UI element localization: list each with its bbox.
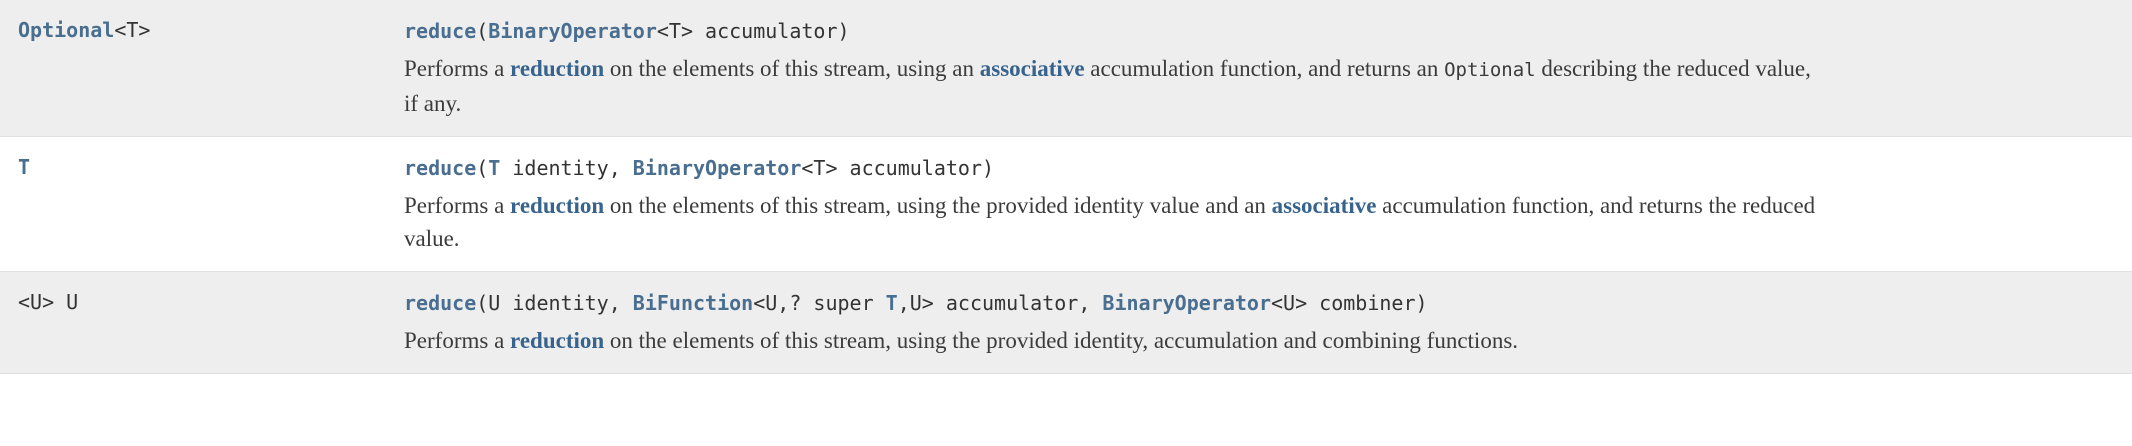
method-name-link[interactable]: reduce: [404, 19, 476, 43]
param-text: identity,: [500, 156, 632, 180]
signature-open-paren: (: [476, 291, 488, 315]
method-summary-table: Optional<T>reduce(BinaryOperator<T> accu…: [0, 0, 2132, 374]
description-text: Performs a: [404, 328, 510, 353]
method-signature: reduce(T identity, BinaryOperator<T> acc…: [404, 153, 2096, 183]
method-signature: reduce(BinaryOperator<T> accumulator): [404, 16, 2096, 46]
inline-code: Optional: [1444, 59, 1536, 81]
param-type-link[interactable]: BinaryOperator: [1102, 291, 1271, 315]
param-text: U identity,: [488, 291, 633, 315]
param-text: ,U> accumulator,: [898, 291, 1103, 315]
description-text: on the elements of this stream, using th…: [604, 193, 1271, 218]
return-type-link[interactable]: T: [18, 155, 30, 179]
signature-open-paren: (: [476, 156, 488, 180]
description-text: on the elements of this stream, using th…: [604, 328, 1518, 353]
param-type-link[interactable]: BinaryOperator: [488, 19, 657, 43]
return-type: <U> U: [18, 288, 404, 316]
return-type-generic: <T>: [114, 18, 150, 42]
method-description: Performs a reduction on the elements of …: [404, 52, 1824, 120]
return-type-link[interactable]: Optional: [18, 18, 114, 42]
description-text: accumulation function, and returns an: [1085, 56, 1445, 81]
param-type-link[interactable]: BinaryOperator: [633, 156, 802, 180]
return-type-cell: Optional<T>: [0, 0, 404, 137]
param-type-link[interactable]: T: [488, 156, 500, 180]
param-type-link[interactable]: BiFunction: [633, 291, 753, 315]
description-link[interactable]: reduction: [510, 328, 604, 353]
signature-open-paren: (: [476, 19, 488, 43]
return-type-cell: T: [0, 137, 404, 272]
description-text: Performs a: [404, 193, 510, 218]
table-row: <U> Ureduce(U identity, BiFunction<U,? s…: [0, 272, 2132, 374]
description-link[interactable]: reduction: [510, 193, 604, 218]
return-type: T: [18, 153, 404, 181]
return-type-cell: <U> U: [0, 272, 404, 374]
param-text: <U,? super: [753, 291, 885, 315]
method-description: Performs a reduction on the elements of …: [404, 189, 1824, 255]
param-type-link[interactable]: T: [886, 291, 898, 315]
method-description: Performs a reduction on the elements of …: [404, 324, 1824, 357]
signature-close-paren: ): [1416, 291, 1428, 315]
method-name-link[interactable]: reduce: [404, 156, 476, 180]
param-text: <T> accumulator: [657, 19, 838, 43]
description-text: Performs a: [404, 56, 510, 81]
method-signature: reduce(U identity, BiFunction<U,? super …: [404, 288, 2096, 318]
method-detail-cell: reduce(T identity, BinaryOperator<T> acc…: [404, 137, 2132, 272]
return-type-generic: <U> U: [18, 290, 78, 314]
method-detail-cell: reduce(BinaryOperator<T> accumulator)Per…: [404, 0, 2132, 137]
param-text: <U> combiner: [1271, 291, 1416, 315]
method-name-link[interactable]: reduce: [404, 291, 476, 315]
return-type: Optional<T>: [18, 16, 404, 44]
method-detail-cell: reduce(U identity, BiFunction<U,? super …: [404, 272, 2132, 374]
table-row: Treduce(T identity, BinaryOperator<T> ac…: [0, 137, 2132, 272]
description-link[interactable]: associative: [1272, 193, 1377, 218]
table-row: Optional<T>reduce(BinaryOperator<T> accu…: [0, 0, 2132, 137]
param-text: <T> accumulator: [801, 156, 982, 180]
method-table-body: Optional<T>reduce(BinaryOperator<T> accu…: [0, 0, 2132, 374]
description-link[interactable]: associative: [980, 56, 1085, 81]
description-link[interactable]: reduction: [510, 56, 604, 81]
signature-close-paren: ): [838, 19, 850, 43]
description-text: on the elements of this stream, using an: [604, 56, 980, 81]
signature-close-paren: ): [982, 156, 994, 180]
